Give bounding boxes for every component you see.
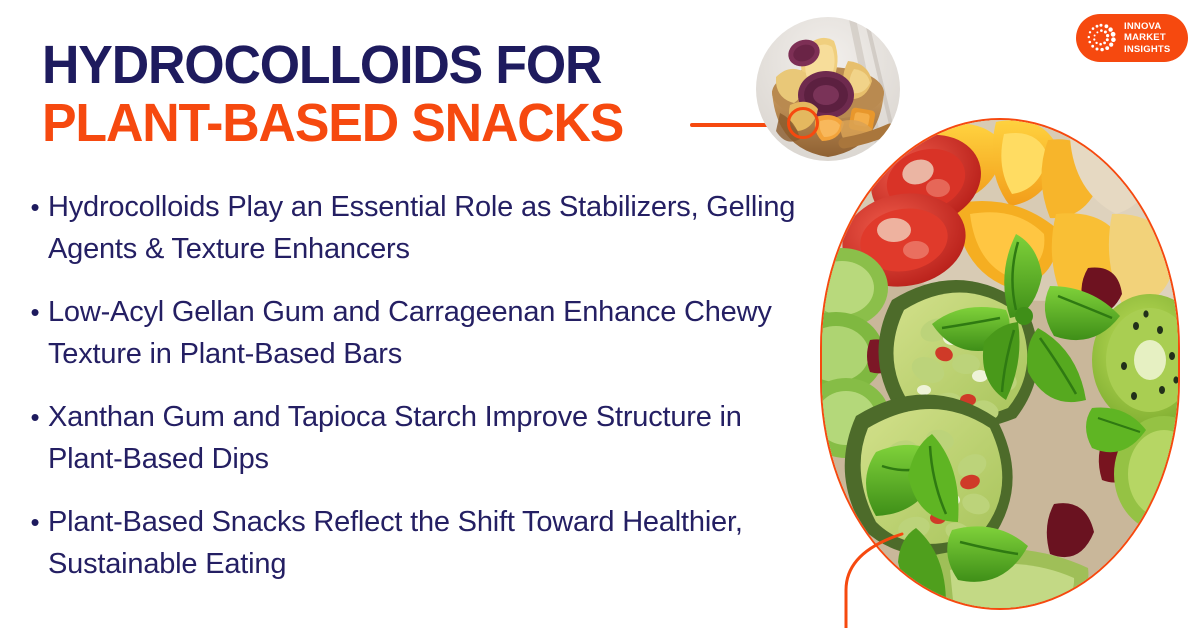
infographic-canvas: HYDROCOLLOIDS FOR PLANT-BASED SNACKS • H… xyxy=(0,0,1200,628)
title-line-secondary: PLANT-BASED SNACKS xyxy=(42,94,714,152)
list-item: • Xanthan Gum and Tapioca Starch Improve… xyxy=(22,396,812,480)
title-line-primary: HYDROCOLLOIDS FOR xyxy=(42,36,714,94)
bullet-dot-icon: • xyxy=(22,186,48,228)
logo-line-3: INSIGHTS xyxy=(1124,44,1170,56)
bullet-dot-icon: • xyxy=(22,396,48,438)
list-item-label: Plant-Based Snacks Reflect the Shift Tow… xyxy=(48,501,812,585)
list-item-label: Xanthan Gum and Tapioca Starch Improve S… xyxy=(48,396,812,480)
bullet-dot-icon: • xyxy=(22,291,48,333)
logo-wordmark: INNOVA MARKET INSIGHTS xyxy=(1124,21,1170,56)
innova-market-insights-logo[interactable]: INNOVA MARKET INSIGHTS xyxy=(1076,14,1188,62)
logo-line-1: INNOVA xyxy=(1124,21,1170,33)
logo-line-2: MARKET xyxy=(1124,32,1170,44)
list-item-label: Low-Acyl Gellan Gum and Carrageenan Enha… xyxy=(48,291,812,375)
list-item: • Hydrocolloids Play an Essential Role a… xyxy=(22,186,812,270)
dotted-circle-icon xyxy=(1084,21,1118,55)
bullet-dot-icon: • xyxy=(22,501,48,543)
list-item: • Low-Acyl Gellan Gum and Carrageenan En… xyxy=(22,291,812,375)
highlight-ring-icon xyxy=(787,107,819,139)
list-item: • Plant-Based Snacks Reflect the Shift T… xyxy=(22,501,812,585)
list-item-label: Hydrocolloids Play an Essential Role as … xyxy=(48,186,812,270)
page-title: HYDROCOLLOIDS FOR PLANT-BASED SNACKS xyxy=(42,36,742,152)
oval-tail-curve xyxy=(780,500,910,628)
key-points-list: • Hydrocolloids Play an Essential Role a… xyxy=(22,186,812,585)
